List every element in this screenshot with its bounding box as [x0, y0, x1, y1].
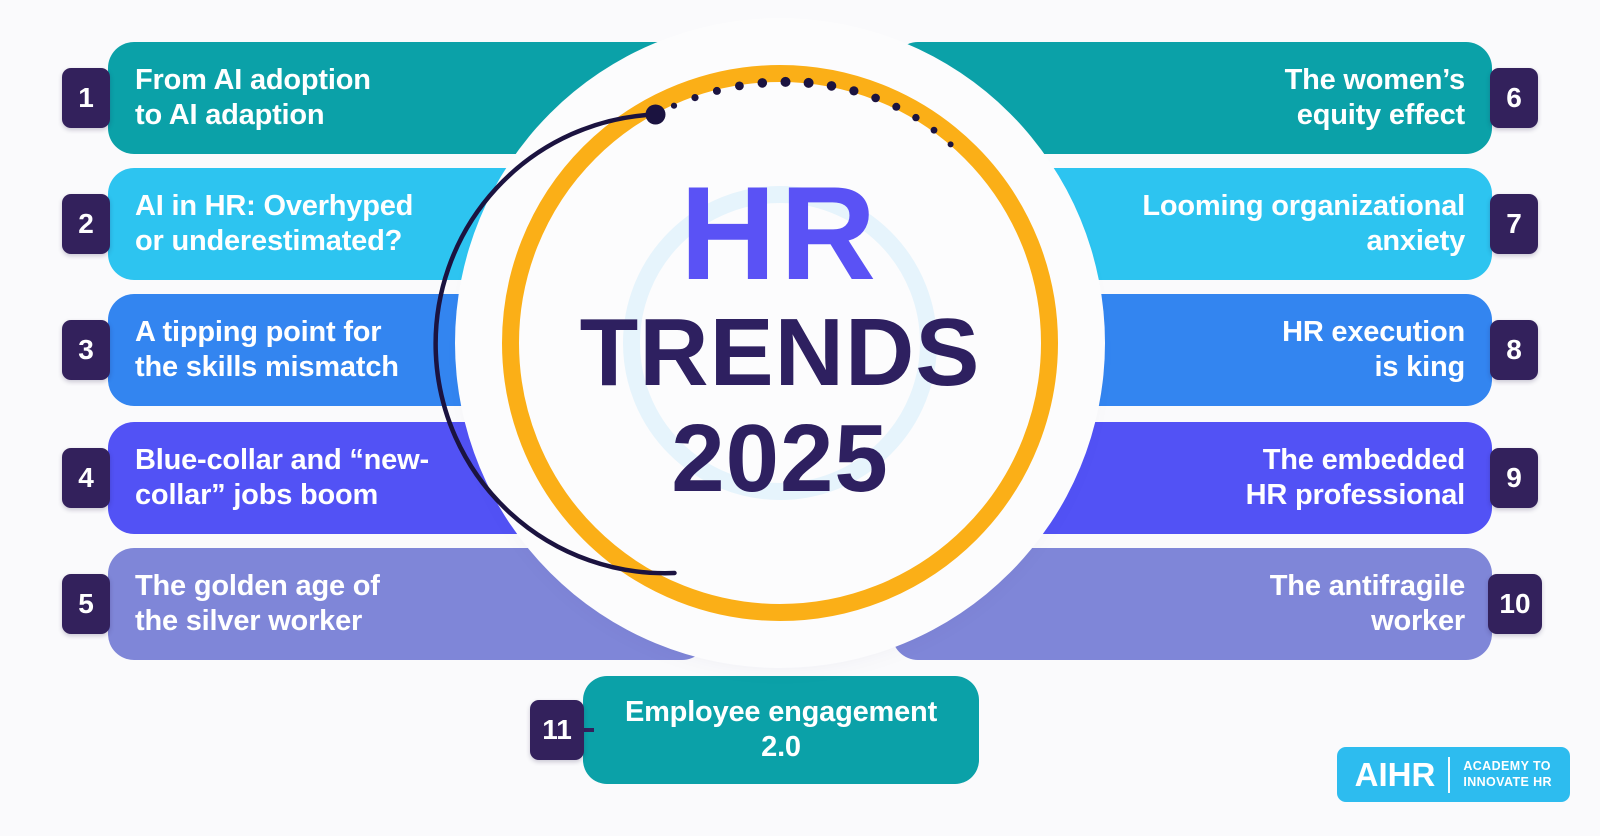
logo-tagline-line1: ACADEMY TO — [1463, 759, 1552, 775]
trend-badge-5: 5 — [62, 574, 110, 634]
logo-wordmark: AIHR — [1355, 758, 1436, 791]
center-title-trends: TRENDS — [580, 305, 981, 401]
logo-tagline-line2: INNOVATE HR — [1463, 775, 1552, 791]
trend-number-4: 4 — [78, 462, 94, 494]
center-title-hr: HR — [680, 173, 880, 297]
trend-badge-4: 4 — [62, 448, 110, 508]
trend-label-6: The women’s equity effect — [1285, 63, 1465, 134]
trend-badge-9: 9 — [1490, 448, 1538, 508]
trend-number-11: 11 — [542, 714, 572, 746]
trend-badge-2: 2 — [62, 194, 110, 254]
logo-tagline: ACADEMY TO INNOVATE HR — [1463, 759, 1552, 790]
trend-badge-6: 6 — [1490, 68, 1538, 128]
trend-badge-3: 3 — [62, 320, 110, 380]
trend-number-10: 10 — [1499, 588, 1530, 620]
logo-divider — [1448, 757, 1450, 793]
trend-bar-11[interactable]: Employee engagement 2.0 — [583, 676, 979, 784]
trend-number-5: 5 — [78, 588, 94, 620]
trend-badge-8: 8 — [1490, 320, 1538, 380]
center-title-group: HR TRENDS 2025 — [455, 18, 1105, 668]
trend-label-1: From AI adoption to AI adaption — [135, 63, 371, 134]
infographic-canvas: 1 From AI adoption to AI adaption 2 AI i… — [0, 0, 1600, 836]
trend-number-2: 2 — [78, 208, 94, 240]
trend-label-7: Looming organizational anxiety — [1142, 189, 1465, 260]
trend-badge-7: 7 — [1490, 194, 1538, 254]
center-emblem: HR TRENDS 2025 — [455, 18, 1105, 668]
trend-badge-10: 10 — [1488, 574, 1542, 634]
trend-badge-1: 1 — [62, 68, 110, 128]
trend-number-3: 3 — [78, 334, 94, 366]
trend-number-1: 1 — [78, 82, 94, 114]
trend-number-9: 9 — [1506, 462, 1522, 494]
trend-label-11: Employee engagement 2.0 — [607, 695, 955, 766]
trend-label-2: AI in HR: Overhyped or underestimated? — [135, 189, 413, 260]
trend-number-7: 7 — [1506, 208, 1522, 240]
trend-label-3: A tipping point for the skills mismatch — [135, 315, 399, 386]
trend-label-5: The golden age of the silver worker — [135, 569, 380, 640]
trend-label-9: The embedded HR professional — [1246, 443, 1465, 514]
trend-label-4: Blue-collar and “new- collar” jobs boom — [135, 443, 429, 514]
trend-number-8: 8 — [1506, 334, 1522, 366]
trend-label-10: The antifragile worker — [1270, 569, 1465, 640]
aihr-logo[interactable]: AIHR ACADEMY TO INNOVATE HR — [1337, 747, 1570, 802]
center-title-year: 2025 — [671, 411, 889, 507]
trend-badge-11: 11 — [530, 700, 584, 760]
trend-label-8: HR execution is king — [1282, 315, 1465, 386]
trend-number-6: 6 — [1506, 82, 1522, 114]
